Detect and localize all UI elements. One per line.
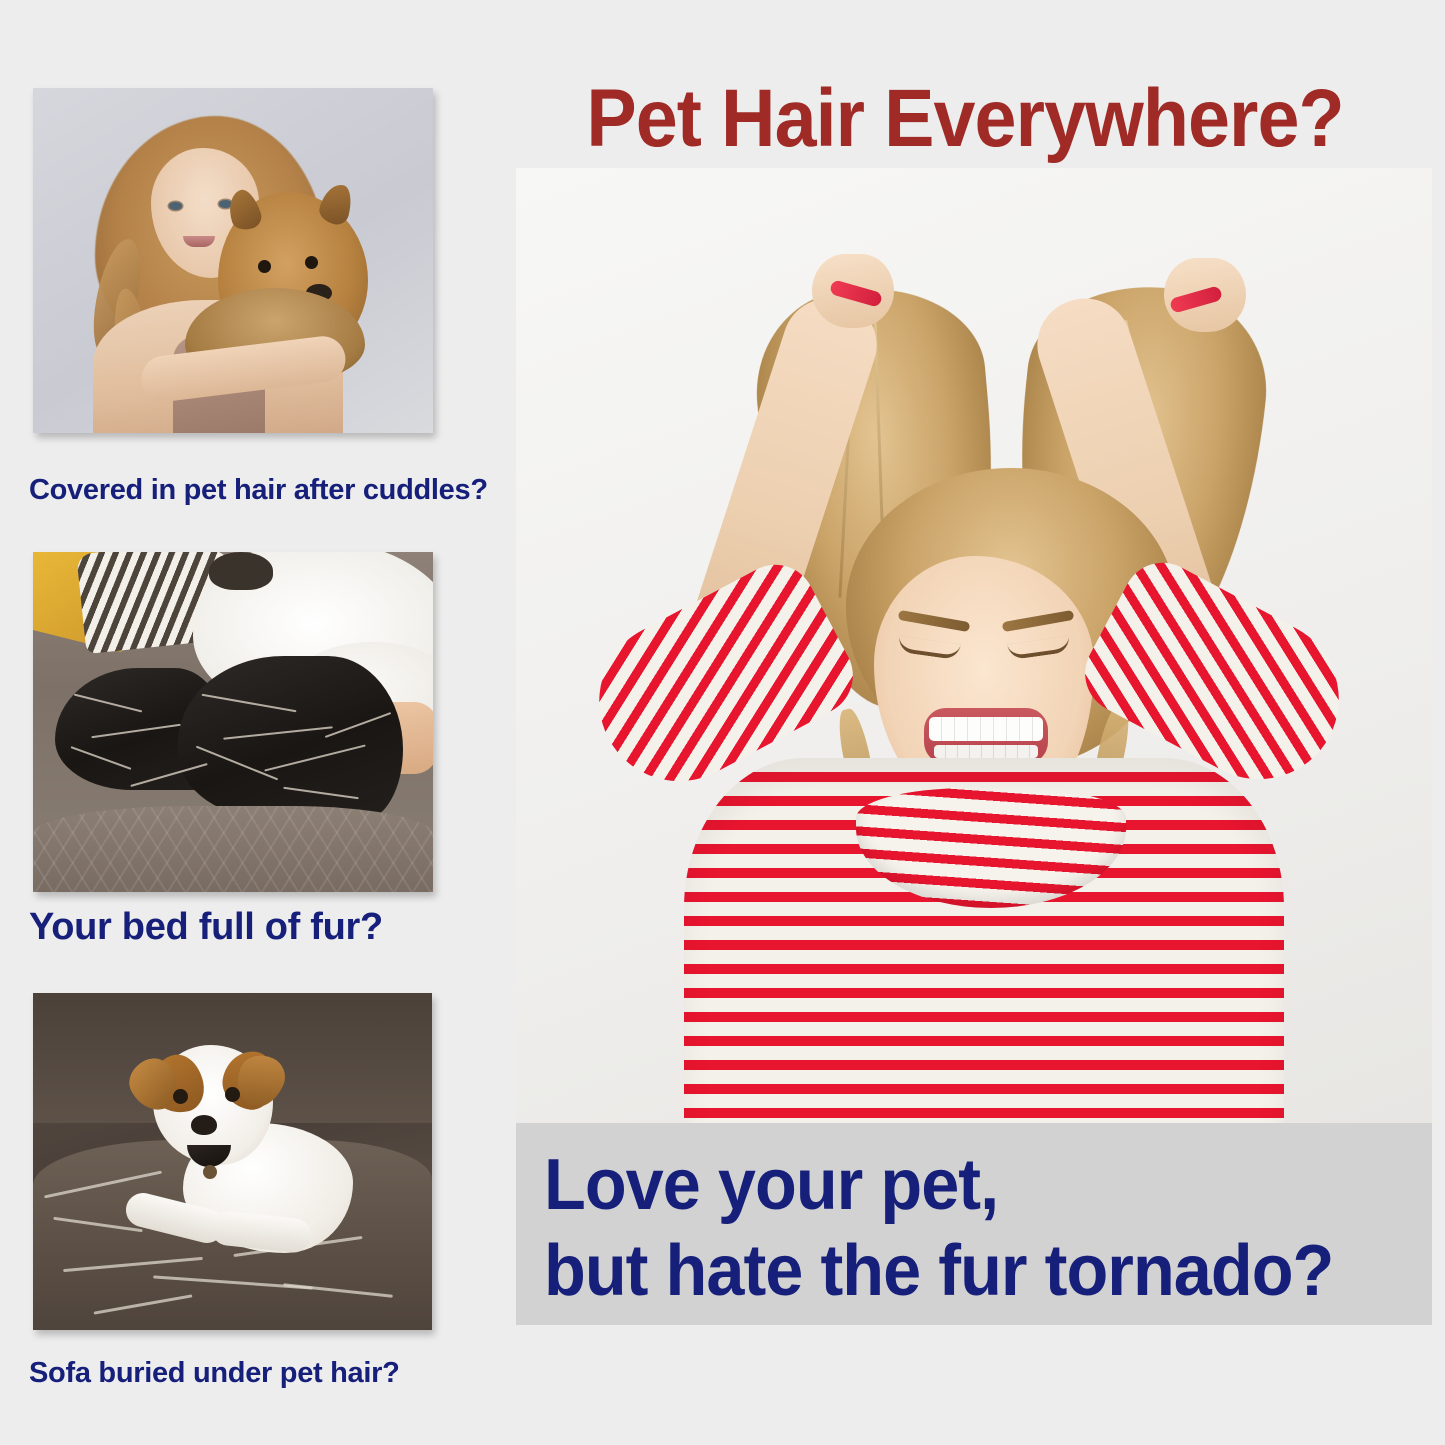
upper-teeth [929, 717, 1043, 741]
thumbnail-bed-fur [33, 552, 433, 892]
girl-eye-left [169, 202, 182, 210]
tagline-banner: Love your pet, but hate the fur tornado? [516, 1123, 1432, 1325]
dog-eye-left [173, 1089, 188, 1104]
dog-eye-right [225, 1087, 240, 1102]
black-sock-right [178, 656, 403, 820]
poster-canvas: Pet Hair Everywhere? Covered in pet hair… [0, 0, 1445, 1445]
pet-dark-patch [209, 552, 273, 590]
dog-eye-left [258, 260, 271, 273]
gritted-mouth [924, 708, 1048, 764]
hero-photo-frustrated-woman [516, 168, 1432, 1128]
photo-girl-with-yorkie [33, 88, 433, 433]
dog-eye-right [305, 256, 318, 269]
lower-teeth [934, 745, 1038, 758]
thumbnail-caption-1: Covered in pet hair after cuddles? [29, 474, 488, 507]
thumbnail-sofa-hair [33, 993, 432, 1330]
thumbnail-caption-3: Sofa buried under pet hair? [29, 1357, 400, 1390]
photo-socks-with-pet-hair [33, 552, 433, 892]
page-title: Pet Hair Everywhere? [542, 78, 1388, 160]
bed-blanket [33, 806, 433, 892]
thumbnail-pet-cuddles [33, 88, 433, 433]
photo-terrier-on-sofa [33, 993, 432, 1330]
dog-nose [191, 1115, 217, 1135]
thumbnail-caption-2: Your bed full of fur? [29, 906, 383, 949]
tagline-line-1: Love your pet, [544, 1149, 998, 1221]
tagline-line-2: but hate the fur tornado? [544, 1235, 1333, 1307]
dog-collar-tag [203, 1165, 217, 1179]
